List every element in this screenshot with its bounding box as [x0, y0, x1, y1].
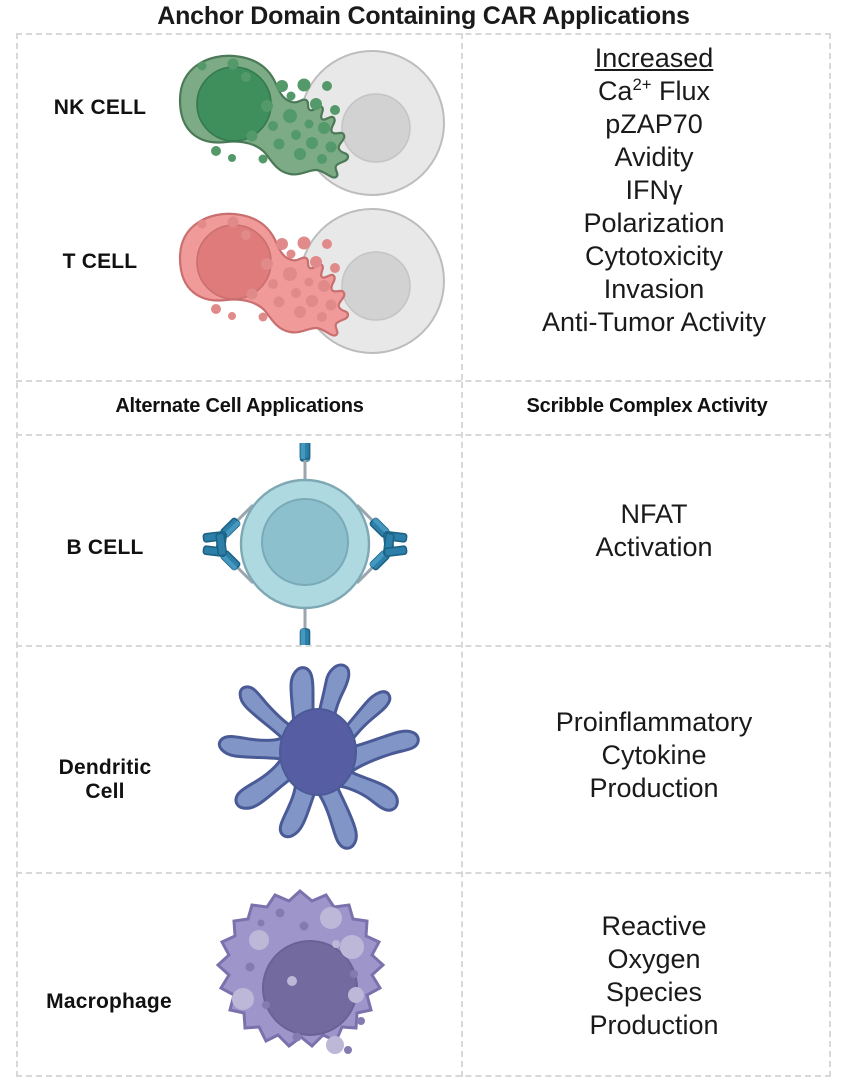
activity-item-nfat: NFAT [463, 498, 845, 531]
activity-item-pzap70: pZAP70 [463, 108, 845, 141]
activity-list-macrophage: Reactive Oxygen Species Production [463, 910, 845, 1042]
activity-item-ifng: IFNγ [463, 174, 845, 207]
activity-item-calcium-flux: Ca2+ Flux [463, 75, 845, 108]
calcium-charge: 2+ [632, 75, 651, 94]
activity-item-proinflammatory: Proinflammatory [463, 706, 845, 739]
illustration-b-cell [195, 443, 415, 650]
target-cell-nucleus [342, 252, 410, 320]
section-header-alternate-cell-applications: Alternate Cell Applications [18, 395, 461, 418]
row-divider-2 [16, 434, 831, 436]
activity-heading-increased: Increased [463, 42, 845, 75]
figure-root: Anchor Domain Containing CAR Application… [0, 0, 847, 1086]
row-label-macrophage: Macrophage [14, 990, 204, 1014]
activity-item-activation: Activation [463, 531, 845, 564]
antibody-s [290, 607, 319, 645]
row-divider-3 [16, 645, 831, 647]
activity-item-cytotoxicity: Cytotoxicity [463, 240, 845, 273]
row-label-nk-cell: NK CELL [20, 96, 180, 120]
row-label-dendritic-cell: Dendritic Cell [20, 756, 190, 804]
dendritic-cell-nucleus [280, 709, 356, 795]
t-cell-nucleus [197, 225, 271, 299]
row-divider-1 [16, 380, 831, 382]
illustration-macrophage [200, 885, 400, 1086]
activity-item-oxygen: Oxygen [463, 943, 845, 976]
activity-list-lymphocyte: Increased Ca2+ Flux pZAP70 Avidity IFNγ … [463, 42, 845, 338]
activity-item-avidity: Avidity [463, 141, 845, 174]
calcium-symbol: Ca [598, 76, 633, 106]
row-label-b-cell: B CELL [20, 536, 190, 560]
macrophage-svg [200, 885, 400, 1081]
row-label-t-cell: T CELL [20, 250, 180, 274]
activity-list-b-cell: NFAT Activation [463, 498, 845, 564]
illustration-t-cell [172, 198, 452, 363]
calcium-flux-suffix: Flux [652, 76, 711, 106]
antibody-n [290, 443, 319, 481]
dendritic-cell-svg [185, 652, 435, 870]
row-label-dendritic-line2: Cell [85, 780, 124, 803]
illustration-nk-cell [172, 40, 452, 205]
activity-item-cytokine: Cytokine [463, 739, 845, 772]
macrophage-nucleus [263, 941, 357, 1035]
b-cell-nucleus [262, 499, 348, 585]
illustration-dendritic-cell [185, 652, 435, 875]
section-header-scribble-complex-activity: Scribble Complex Activity [463, 395, 831, 418]
activity-item-invasion: Invasion [463, 273, 845, 306]
activity-list-dendritic-cell: Proinflammatory Cytokine Production [463, 706, 845, 805]
activity-item-species: Species [463, 976, 845, 1009]
activity-item-reactive: Reactive [463, 910, 845, 943]
activity-item-production: Production [463, 772, 845, 805]
nk-cell-svg [172, 40, 452, 200]
t-cell-svg [172, 198, 452, 358]
activity-item-anti-tumor-activity: Anti-Tumor Activity [463, 306, 845, 339]
page-title: Anchor Domain Containing CAR Application… [0, 0, 847, 32]
row-label-dendritic-line1: Dendritic [59, 756, 152, 779]
activity-item-polarization: Polarization [463, 207, 845, 240]
target-cell-nucleus [342, 94, 410, 162]
nk-cell-nucleus [197, 67, 271, 141]
b-cell-svg [195, 443, 415, 645]
activity-item-production: Production [463, 1009, 845, 1042]
